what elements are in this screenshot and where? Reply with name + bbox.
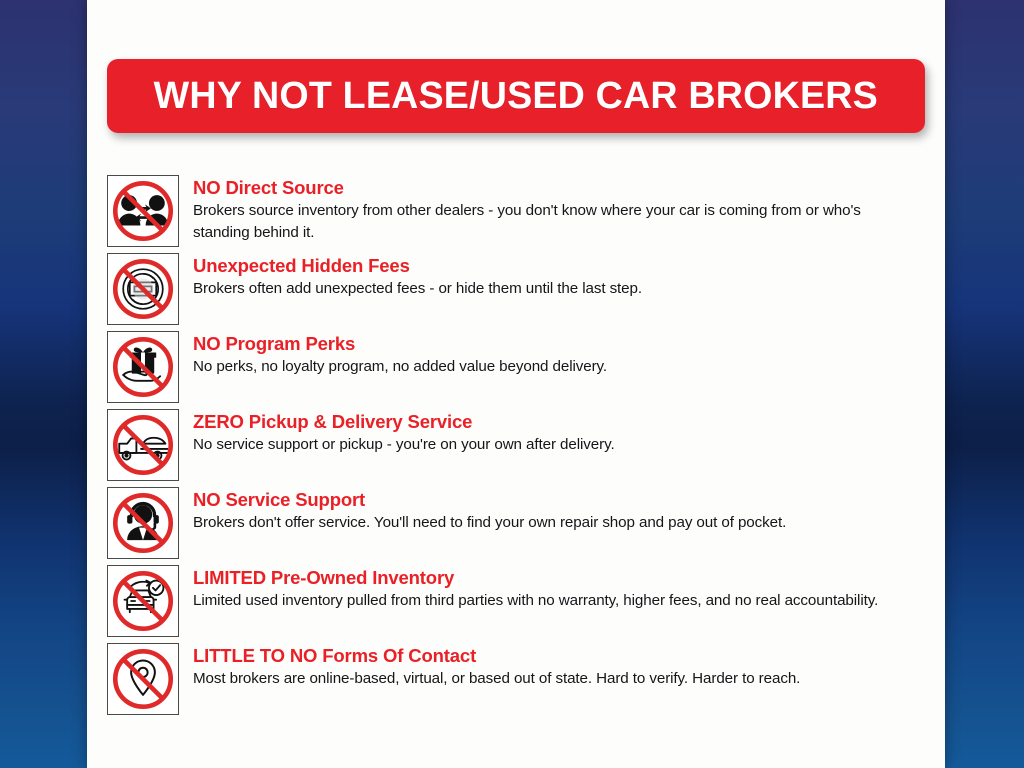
list-item-text: NO Service Support Brokers don't offer s… [179,487,927,534]
no-hidden-fees-concealed-money-icon [110,256,176,322]
list-item-description: Brokers often add unexpected fees - or h… [193,278,911,300]
headline-banner: WHY NOT LEASE/USED CAR BROKERS [107,59,925,133]
list-item-title: NO Direct Source [193,177,927,199]
no-service-support-headset-agent-icon [110,490,176,556]
list-item: LITTLE TO NO Forms Of Contact Most broke… [107,643,927,715]
icon-container [107,409,179,481]
list-item-title: LITTLE TO NO Forms Of Contact [193,645,927,667]
icon-container [107,565,179,637]
list-item-description: Brokers source inventory from other deal… [193,200,911,243]
icon-container [107,331,179,403]
no-direct-source-two-people-exchange-icon [110,178,176,244]
list-item: NO Direct Source Brokers source inventor… [107,175,927,247]
list-item-title: ZERO Pickup & Delivery Service [193,411,927,433]
banner-title: WHY NOT LEASE/USED CAR BROKERS [154,75,878,118]
list-item-description: No perks, no loyalty program, no added v… [193,356,911,378]
icon-container [107,643,179,715]
list-item-text: NO Program Perks No perks, no loyalty pr… [179,331,927,378]
poster-stage: WHY NOT LEASE/USED CAR BROKERS [0,0,1024,768]
no-pickup-delivery-tow-truck-icon [110,412,176,478]
list-item-title: NO Program Perks [193,333,927,355]
list-item-title: Unexpected Hidden Fees [193,255,927,277]
list-item: Unexpected Hidden Fees Brokers often add… [107,253,927,325]
icon-container [107,487,179,559]
list-item: NO Program Perks No perks, no loyalty pr… [107,331,927,403]
list-item: ZERO Pickup & Delivery Service No servic… [107,409,927,481]
list-item-text: LITTLE TO NO Forms Of Contact Most broke… [179,643,927,690]
little-no-contact-map-pin-icon [110,646,176,712]
no-program-perks-gift-in-hand-icon [110,334,176,400]
list-item-description: Limited used inventory pulled from third… [193,590,911,612]
list-item-text: Unexpected Hidden Fees Brokers often add… [179,253,927,300]
list-item-title: LIMITED Pre-Owned Inventory [193,567,927,589]
list-item-text: LIMITED Pre-Owned Inventory Limited used… [179,565,927,612]
icon-container [107,253,179,325]
list-item-text: ZERO Pickup & Delivery Service No servic… [179,409,927,456]
limited-preowned-inventory-car-check-icon [110,568,176,634]
list-item-description: Most brokers are online-based, virtual, … [193,668,911,690]
list-item-description: No service support or pickup - you're on… [193,434,911,456]
list-item: NO Service Support Brokers don't offer s… [107,487,927,559]
list-item-title: NO Service Support [193,489,927,511]
list-item-text: NO Direct Source Brokers source inventor… [179,175,927,243]
list-item-description: Brokers don't offer service. You'll need… [193,512,911,534]
reasons-list: NO Direct Source Brokers source inventor… [107,175,927,721]
icon-container [107,175,179,247]
list-item: LIMITED Pre-Owned Inventory Limited used… [107,565,927,637]
